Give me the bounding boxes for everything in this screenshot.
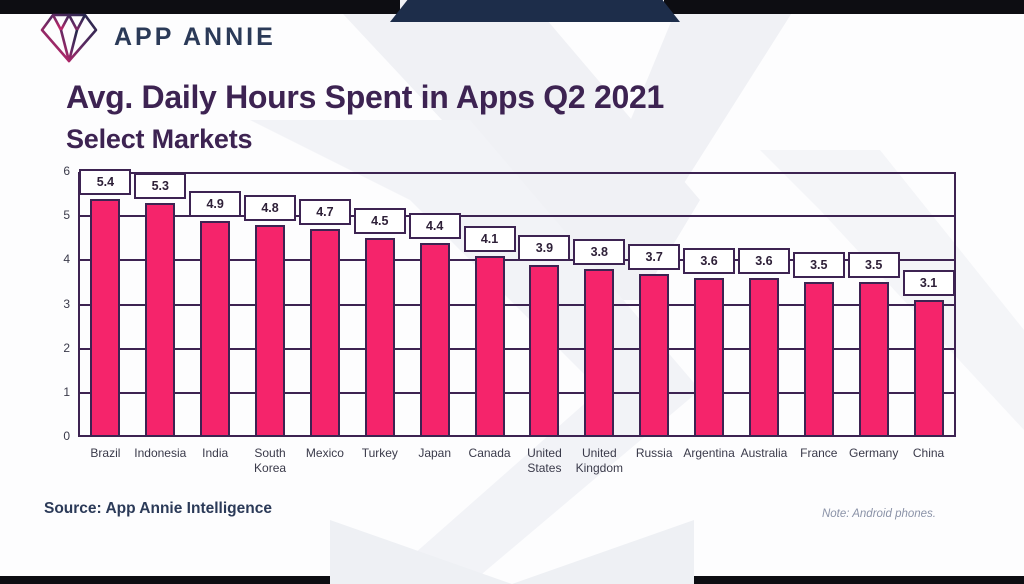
y-axis-tick-label: 4 xyxy=(56,252,70,266)
x-axis-category-label: China xyxy=(895,446,962,461)
bar xyxy=(420,243,450,437)
bar-value-label: 4.8 xyxy=(244,195,296,221)
y-axis-tick-label: 6 xyxy=(56,164,70,178)
bar-value-label: 3.8 xyxy=(573,239,625,265)
bar-value-label: 3.7 xyxy=(628,244,680,270)
y-axis-tick-label: 5 xyxy=(56,208,70,222)
bar xyxy=(365,238,395,437)
brand-name: APP ANNIE xyxy=(114,23,276,52)
bar xyxy=(914,300,944,437)
bar-value-label: 3.1 xyxy=(903,270,955,296)
diamond-logo-icon xyxy=(38,8,100,66)
bar-value-label: 4.7 xyxy=(299,199,351,225)
source-note: Source: App Annie Intelligence xyxy=(44,500,272,518)
bar xyxy=(200,221,230,437)
bar xyxy=(145,203,175,437)
y-axis-tick-label: 2 xyxy=(56,341,70,355)
y-axis-tick-label: 3 xyxy=(56,297,70,311)
footnote: Note: Android phones. xyxy=(822,508,936,520)
bar-value-label: 4.9 xyxy=(189,191,241,217)
bar xyxy=(475,256,505,437)
bar xyxy=(90,199,120,438)
bar xyxy=(310,229,340,437)
bar-value-label: 3.6 xyxy=(738,248,790,274)
bar-value-label: 3.5 xyxy=(848,252,900,278)
bar xyxy=(255,225,285,437)
bar-value-label: 5.3 xyxy=(134,173,186,199)
bar-value-label: 3.5 xyxy=(793,252,845,278)
bar xyxy=(694,278,724,437)
bar-value-label: 4.1 xyxy=(464,226,516,252)
bar-value-label: 3.9 xyxy=(518,235,570,261)
bar-value-label: 4.5 xyxy=(354,208,406,234)
bar-value-label: 3.6 xyxy=(683,248,735,274)
bar xyxy=(804,282,834,437)
bar xyxy=(529,265,559,437)
y-axis-tick-label: 0 xyxy=(56,429,70,443)
page-subtitle: Select Markets xyxy=(66,124,252,155)
bar-value-label: 5.4 xyxy=(79,169,131,195)
slide-canvas: APP ANNIE Avg. Daily Hours Spent in Apps… xyxy=(0,0,1024,584)
brand-logo: APP ANNIE xyxy=(38,8,276,66)
page-title: Avg. Daily Hours Spent in Apps Q2 2021 xyxy=(66,79,664,116)
bar xyxy=(859,282,889,437)
bar xyxy=(749,278,779,437)
bar xyxy=(639,274,669,437)
bar-value-label: 4.4 xyxy=(409,213,461,239)
y-axis-tick-label: 1 xyxy=(56,385,70,399)
bar xyxy=(584,269,614,437)
